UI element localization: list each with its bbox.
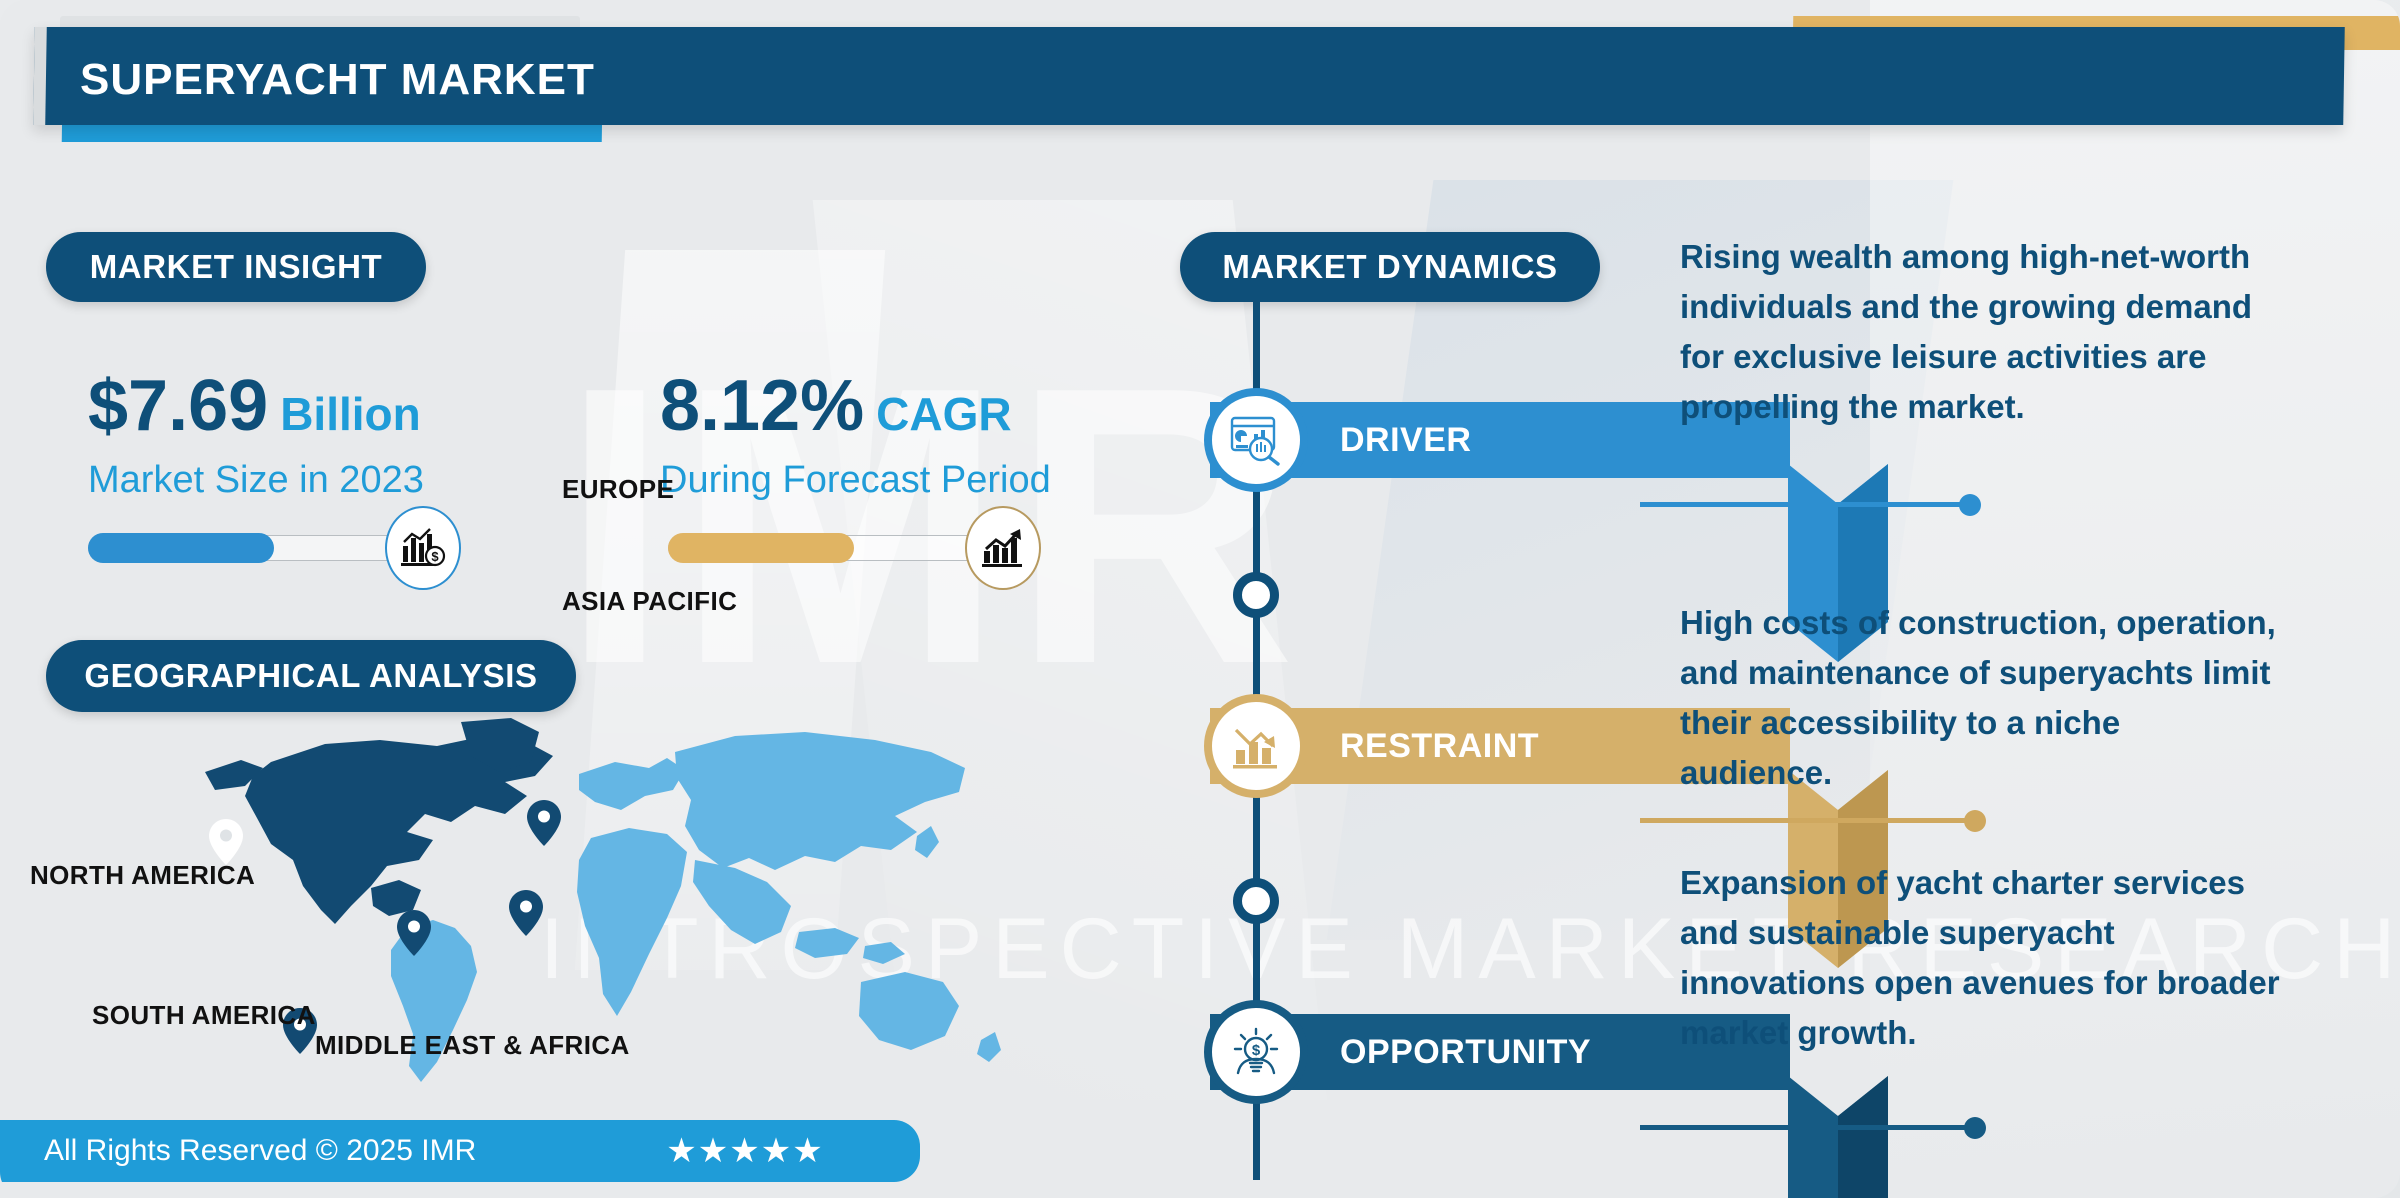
bar-chart-dollar-icon: $ (385, 506, 461, 590)
timeline-node-2 (1233, 878, 1279, 924)
kpi-market-size: $7.69Billion Market Size in 2023 (88, 365, 608, 502)
section-pill-geographical-analysis: GEOGRAPHICAL ANALYSIS (46, 640, 576, 712)
cagr-caption: During Forecast Period (660, 459, 1220, 502)
driver-rule-dot (1959, 494, 1981, 516)
page-plate: IMR INTROSPECTIVE MARKET RESEARCH SUPERY… (0, 0, 2400, 1198)
restraint-rule-dot (1964, 810, 1986, 832)
page-title: SUPERYACHT MARKET (80, 50, 1480, 110)
map-label-south-america: SOUTH AMERICA (92, 1000, 316, 1031)
cagr-value: 8.12% (660, 366, 864, 446)
section-pill-market-insight: MARKET INSIGHT (46, 232, 426, 302)
map-pin-asia-pacific (509, 890, 543, 936)
driver-rule (1640, 502, 1970, 507)
map-label-middle-east-africa: MIDDLE EAST & AFRICA (315, 1030, 630, 1061)
infographic-canvas: IMR INTROSPECTIVE MARKET RESEARCH SUPERY… (0, 0, 2400, 1198)
declining-bar-chart-icon (1204, 694, 1308, 798)
market-size-caption: Market Size in 2023 (88, 459, 608, 502)
section-pill-market-dynamics: MARKET DYNAMICS (1180, 232, 1600, 302)
growth-arrow-chart-icon (965, 506, 1041, 590)
opportunity-rule-dot (1964, 1117, 1986, 1139)
restraint-rule (1640, 818, 1975, 823)
driver-description: Rising wealth among high-net-worth indiv… (1680, 232, 2280, 433)
market-size-unit: Billion (280, 388, 421, 440)
map-pin-middle-east-africa (397, 910, 431, 956)
restraint-description: High costs of construction, operation, a… (1680, 598, 2280, 799)
timeline-node-1 (1233, 572, 1279, 618)
map-label-north-america: NORTH AMERICA (30, 860, 255, 891)
market-size-value: $7.69 (88, 366, 268, 446)
svg-text:$: $ (431, 549, 439, 564)
opportunity-description: Expansion of yacht charter services and … (1680, 858, 2280, 1059)
footer-bar: All Rights Reserved © 2025 IMR ★★★★★ (0, 1120, 920, 1182)
map-label-europe: EUROPE (562, 474, 674, 505)
market-size-progress-fill (88, 533, 274, 563)
cagr-progress-fill (668, 533, 854, 563)
lightbulb-dollar-idea-icon: $ (1204, 1000, 1308, 1104)
map-pin-north-america (209, 819, 243, 865)
dashboard-analytics-magnifier-icon (1204, 388, 1308, 492)
map-label-asia-pacific: ASIA PACIFIC (562, 586, 737, 617)
cagr-unit: CAGR (876, 388, 1011, 440)
footer-star-rating: ★★★★★ (666, 1131, 823, 1171)
header-left-edge (33, 27, 47, 125)
opportunity-chevron (1788, 1076, 1888, 1198)
opportunity-rule (1640, 1125, 1975, 1130)
kpi-cagr: 8.12%CAGR During Forecast Period (660, 365, 1220, 502)
map-pin-europe (527, 800, 561, 846)
svg-text:$: $ (1252, 1042, 1261, 1059)
footer-copyright: All Rights Reserved © 2025 IMR (44, 1134, 476, 1168)
